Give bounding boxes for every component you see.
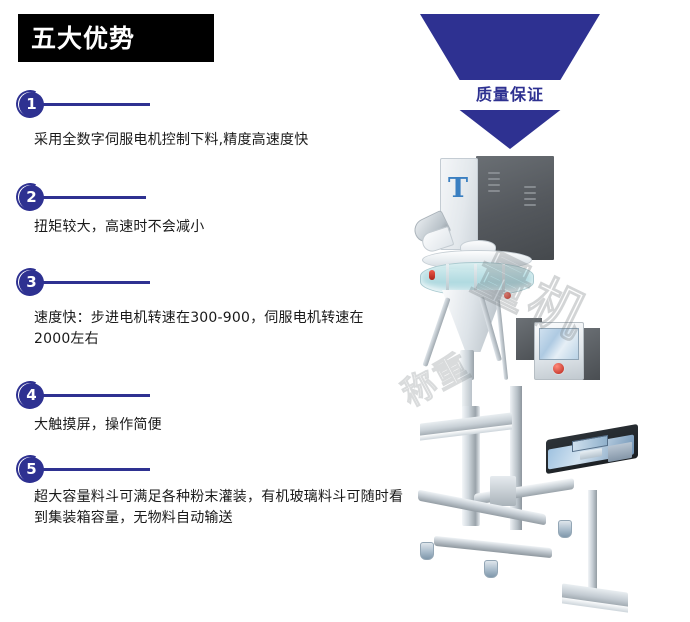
features-column: 五大优势 1 采用全数字伺服电机控制下料,精度高速度快 2 扭矩 — [0, 0, 412, 622]
page-title-banner: 五大优势 — [18, 14, 214, 62]
quality-funnel-graphic: 质量保证 — [420, 14, 600, 144]
product-column: 质量保证 T — [412, 0, 690, 622]
support-arm — [496, 300, 508, 380]
feature-text-3: 速度快：步进电机转速在300-900，伺服电机转速在2000左右 — [34, 308, 390, 350]
caster-wheel — [420, 542, 434, 560]
cabinet-vent-group-left — [488, 172, 500, 192]
badge-rule-4 — [42, 394, 150, 397]
filling-machine-image: T — [412, 150, 690, 610]
base-frame-side — [434, 536, 552, 558]
feature-item-2: 2 扭矩较大，高速时不会减小 — [0, 185, 412, 215]
feature-item-4: 4 大触摸屏，操作简便 — [0, 383, 412, 413]
vent-slot — [524, 198, 536, 200]
caster-wheel — [558, 520, 572, 538]
funnel-label-band: 质量保证 — [420, 80, 600, 110]
badge-number-1: 1 — [19, 92, 44, 117]
hopper-strut — [446, 264, 449, 292]
badge-number-2: 2 — [19, 185, 44, 210]
page-title: 五大优势 — [18, 26, 135, 51]
hopper-strut — [474, 264, 477, 292]
support-arm — [422, 297, 450, 367]
red-knob — [429, 270, 435, 280]
feature-badge-row-3: 3 — [0, 270, 412, 300]
feature-item-3: 3 速度快：步进电机转速在300-900，伺服电机转速在2000左右 — [0, 270, 412, 300]
auger-neck — [460, 350, 474, 380]
promo-page: 五大优势 1 采用全数字伺服电机控制下料,精度高速度快 2 扭矩 — [0, 0, 690, 622]
feature-badge-row-1: 1 — [0, 92, 412, 122]
feature-text-2: 扭矩较大，高速时不会减小 — [34, 217, 402, 238]
hopper-strut — [502, 264, 505, 292]
vent-slot — [524, 186, 536, 188]
brand-logo: T — [445, 172, 471, 206]
badge-number-5: 5 — [19, 457, 44, 482]
funnel-bottom-shape — [420, 110, 600, 149]
red-knob — [504, 292, 511, 299]
badge-rule-3 — [42, 281, 150, 284]
vent-slot — [524, 204, 536, 206]
base-center-joint — [490, 476, 516, 506]
feature-text-4: 大触摸屏，操作简便 — [34, 415, 402, 436]
vent-slot — [524, 192, 536, 194]
funnel-top-shape — [420, 14, 600, 80]
digital-scale-stand-post — [588, 490, 597, 594]
vent-slot — [488, 172, 500, 174]
vent-slot — [488, 178, 500, 180]
feature-item-5: 5 超大容量料斗可满足各种粉末灌装，有机玻璃料斗可随时看到集装箱容量，无物料自动… — [0, 457, 412, 487]
feature-text-1: 采用全数字伺服电机控制下料,精度高速度快 — [34, 130, 402, 151]
feature-text-5: 超大容量料斗可满足各种粉末灌装，有机玻璃料斗可随时看到集装箱容量，无物料自动输送 — [34, 487, 406, 529]
feature-badge-row-5: 5 — [0, 457, 412, 487]
badge-rule-1 — [42, 103, 150, 106]
feature-item-1: 1 采用全数字伺服电机控制下料,精度高速度快 — [0, 92, 412, 122]
badge-rule-2 — [42, 196, 146, 199]
vent-slot — [488, 184, 500, 186]
quality-label: 质量保证 — [476, 87, 544, 103]
badge-rule-5 — [42, 468, 150, 471]
feature-badge-row-2: 2 — [0, 185, 412, 215]
cabinet-vent-group-right — [524, 186, 536, 206]
badge-number-4: 4 — [19, 383, 44, 408]
caster-wheel — [484, 560, 498, 578]
touchscreen-display — [539, 328, 579, 360]
vent-slot — [488, 190, 500, 192]
base-frame-rear — [474, 478, 574, 505]
emergency-stop-button — [552, 362, 565, 375]
feature-badge-row-4: 4 — [0, 383, 412, 413]
badge-number-3: 3 — [19, 270, 44, 295]
